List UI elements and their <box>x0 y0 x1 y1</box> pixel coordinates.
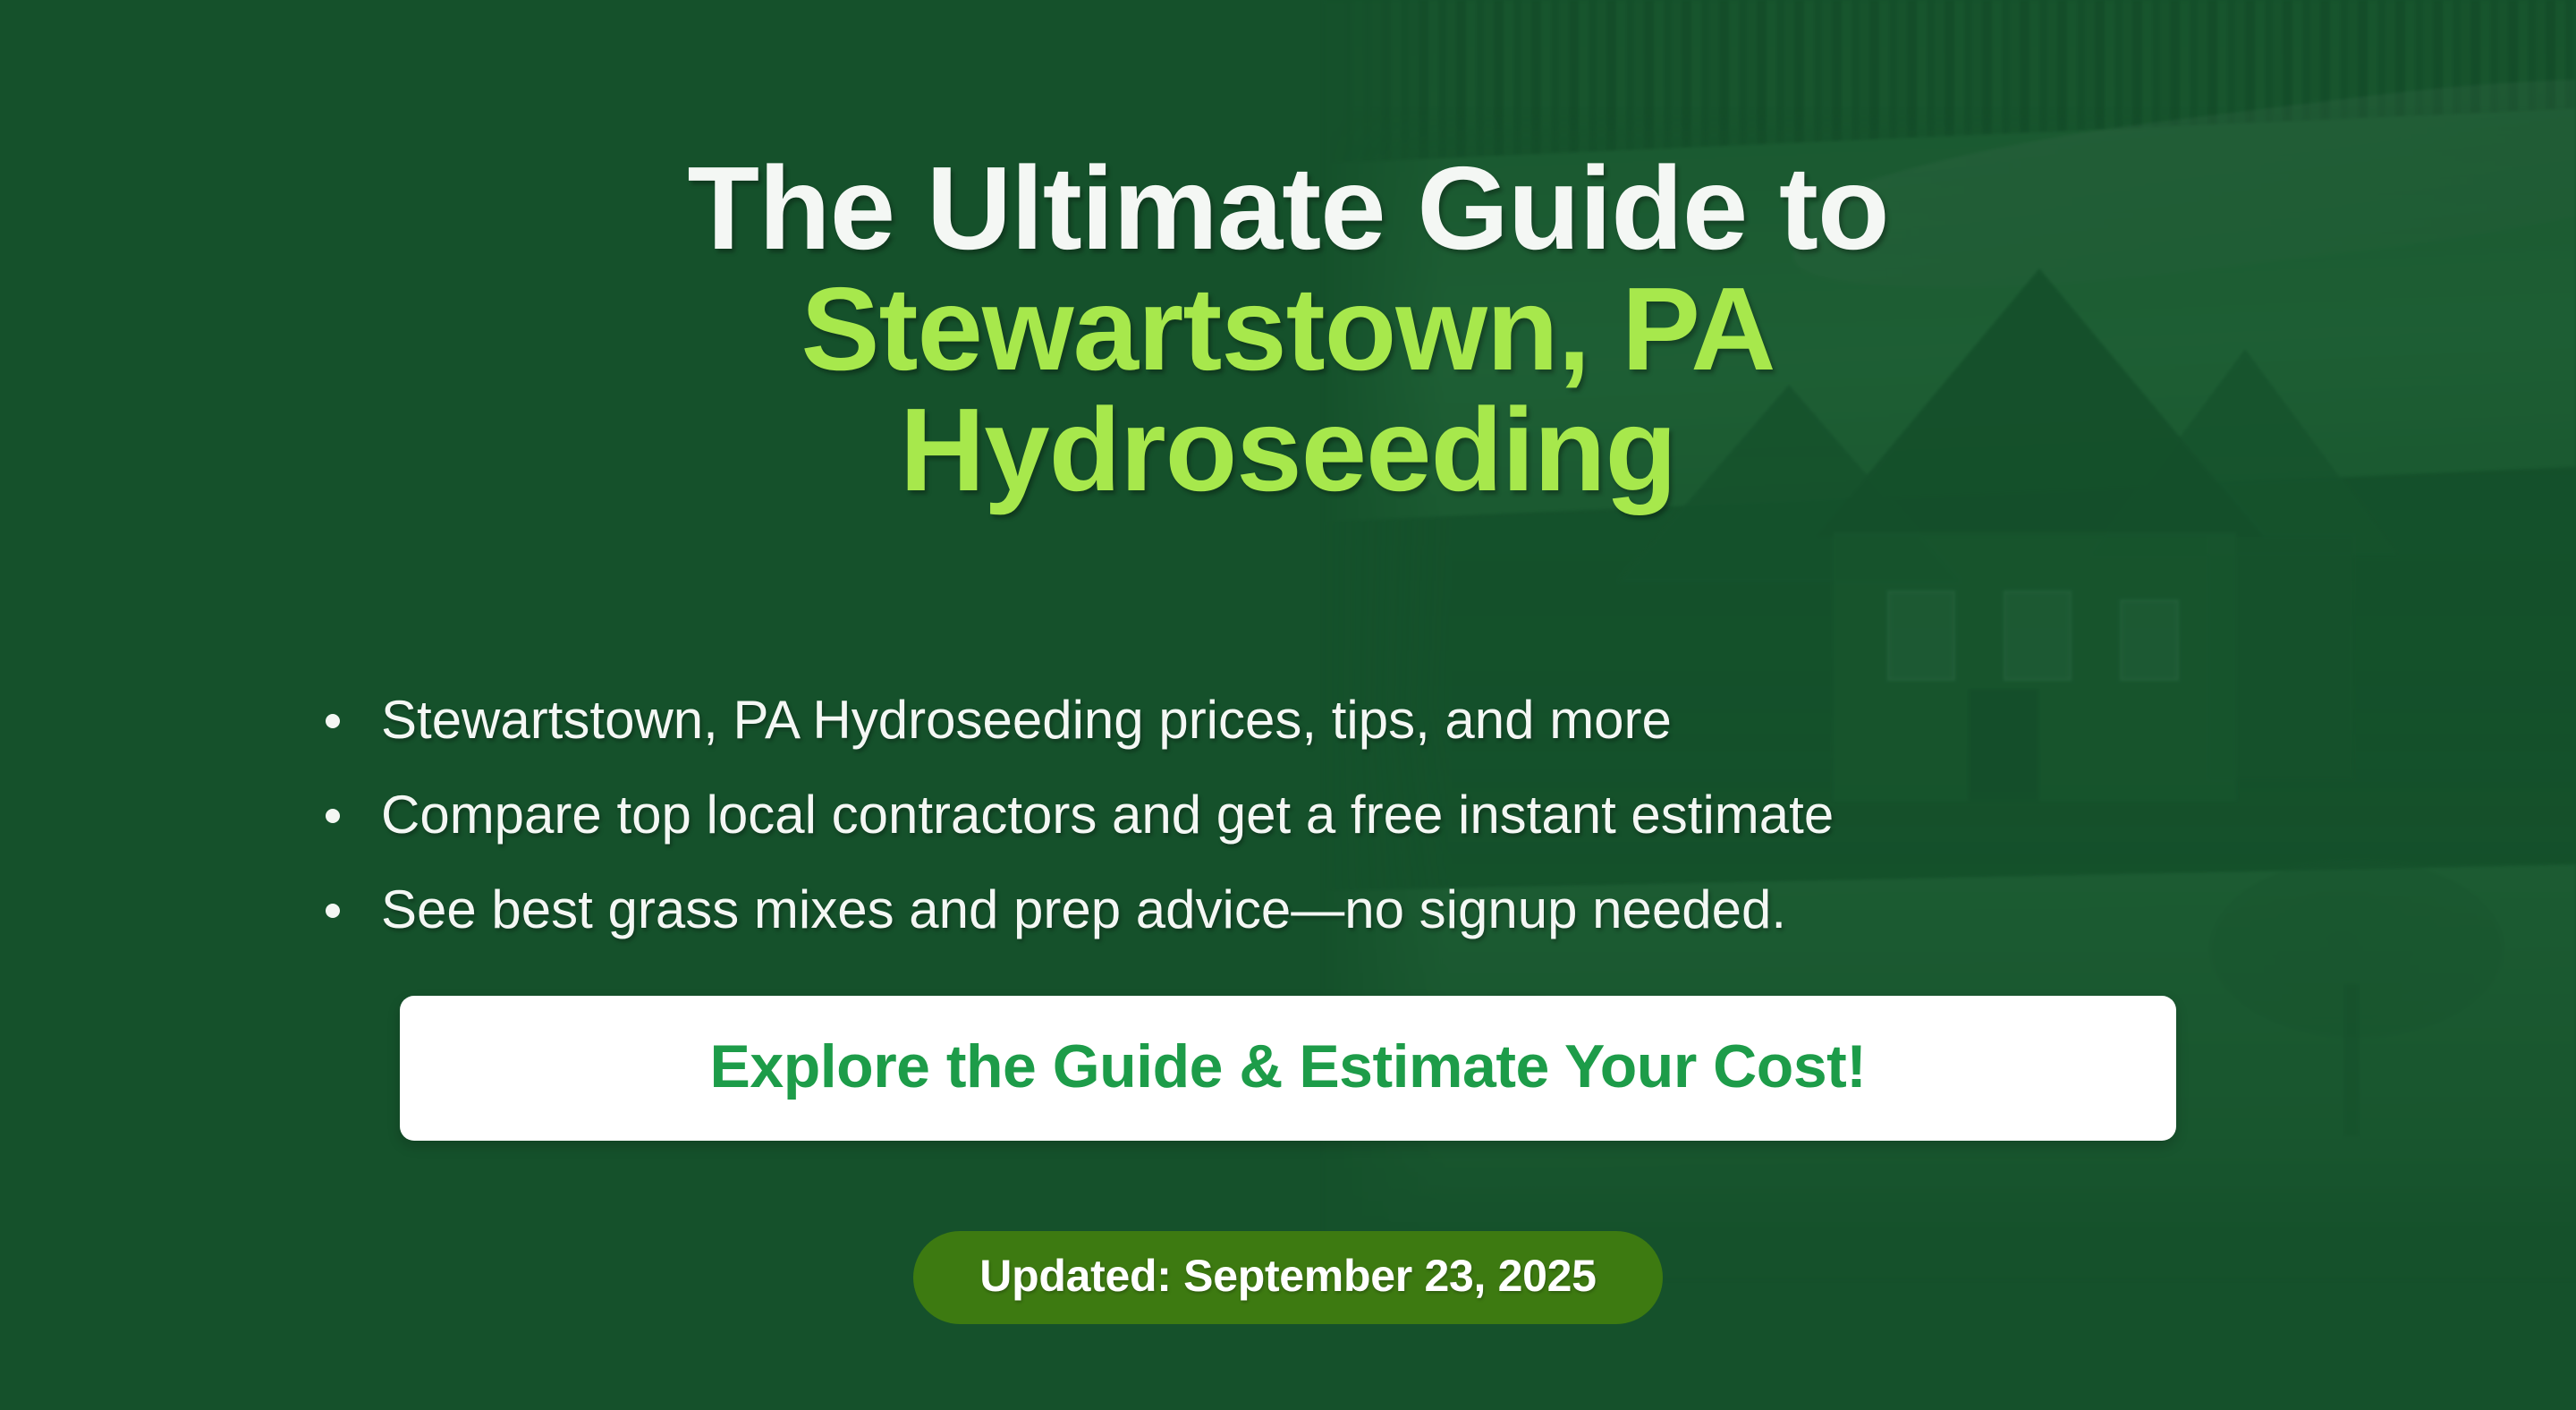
updated-date-badge: Updated: September 23, 2025 <box>913 1231 1662 1324</box>
headline-line-primary: The Ultimate Guide to <box>687 142 1888 274</box>
page-title: The Ultimate Guide to Stewartstown, PA H… <box>0 149 2576 510</box>
updated-badge-container: Updated: September 23, 2025 <box>0 1231 2576 1324</box>
hero-banner: The Ultimate Guide to Stewartstown, PA H… <box>0 0 2576 1410</box>
cta-container: Explore the Guide & Estimate Your Cost! <box>0 996 2576 1141</box>
list-item: See best grass mixes and prep advice—no … <box>304 862 2272 957</box>
hero-content: The Ultimate Guide to Stewartstown, PA H… <box>0 0 2576 1410</box>
benefit-list: Stewartstown, PA Hydroseeding prices, ti… <box>304 673 2272 957</box>
explore-guide-button[interactable]: Explore the Guide & Estimate Your Cost! <box>400 996 2176 1141</box>
list-item: Stewartstown, PA Hydroseeding prices, ti… <box>304 673 2272 768</box>
headline-line-accent: Stewartstown, PA Hydroseeding <box>519 269 2057 510</box>
list-item: Compare top local contractors and get a … <box>304 768 2272 862</box>
